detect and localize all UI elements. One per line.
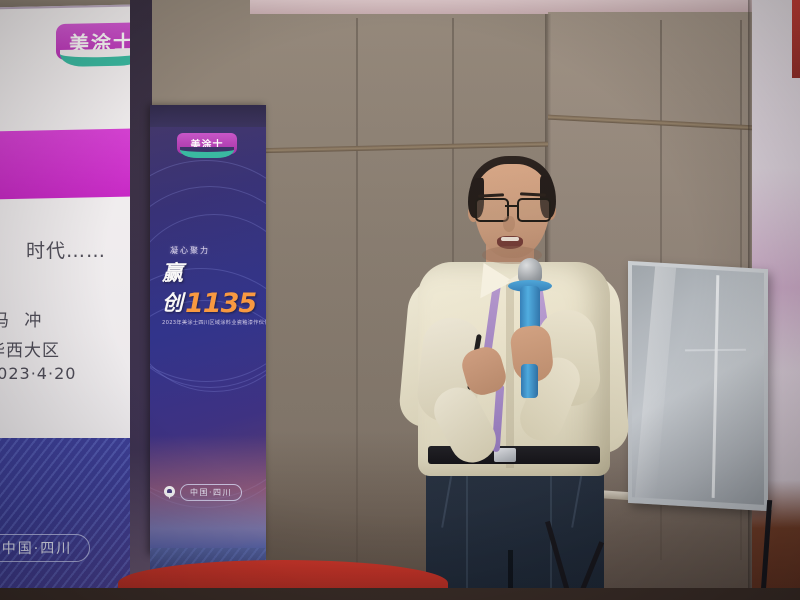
banner-logo-swoosh-icon xyxy=(180,150,234,158)
glasses-lens-right xyxy=(517,198,551,222)
banner-headline-cn: 赢创 xyxy=(162,257,183,317)
screen-top-edge xyxy=(0,4,132,9)
banner-subtitle: 2023年美涂士四川区域涂料业瓷釉漆作伙伴商同大会 xyxy=(162,319,254,326)
banner-top-edge xyxy=(150,105,266,127)
banner-main-line: 赢创 1135 xyxy=(162,257,254,317)
banner-headline-block: 凝心聚力 赢创 1135 2023年美涂士四川区域涂料业瓷釉漆作伙伴商同大会 xyxy=(162,245,254,326)
photo-scene: 美涂士 时代…… 冯 冲 华西大区 2023·4·20 中国·四川 xyxy=(0,0,800,600)
roll-up-banner: 美涂士 凝心聚力 赢创 1135 2023年美涂士四川区域涂料业瓷釉漆作伙伴商同… xyxy=(150,105,266,555)
backdrop-location-pill: 中国·四川 xyxy=(0,534,90,562)
banner-left-shadow xyxy=(130,0,152,600)
slide-speaker-name: 冯 冲 xyxy=(0,306,46,331)
slide-headline: 时代…… xyxy=(26,236,106,263)
glasses-icon xyxy=(473,198,551,218)
projection-screen-area: 美涂士 时代…… 冯 冲 华西大区 2023·4·20 xyxy=(0,0,132,448)
whiteboard-streak xyxy=(685,349,746,352)
banner-location-row: 中国·四川 xyxy=(164,484,242,501)
glasses-bridge xyxy=(505,205,517,207)
slide-date: 2023·4·20 xyxy=(0,364,76,383)
location-pin-icon xyxy=(164,486,175,499)
logo-swoosh-icon xyxy=(60,52,132,67)
shirt-placket xyxy=(506,282,514,468)
whiteboard-streak xyxy=(711,275,719,498)
backdrop-location-label: 中国·四川 xyxy=(2,538,72,558)
floor-strip xyxy=(0,588,800,600)
banner-headline-number: 1135 xyxy=(185,291,256,317)
banner-location-label: 中国·四川 xyxy=(180,484,242,501)
slide-accent-band xyxy=(0,128,132,199)
trouser-crease xyxy=(466,472,468,600)
banner-brand-logo: 美涂士 xyxy=(177,133,237,161)
nose xyxy=(503,216,515,232)
red-accent-strip xyxy=(792,0,800,78)
slide-brand-logo: 美涂士 xyxy=(56,22,132,68)
microphone-handle-end xyxy=(521,364,538,398)
speaker-figure xyxy=(390,150,660,600)
speaker-trousers xyxy=(426,458,604,600)
banner-kicker: 凝心聚力 xyxy=(170,245,254,256)
slide-region: 华西大区 xyxy=(0,336,60,361)
